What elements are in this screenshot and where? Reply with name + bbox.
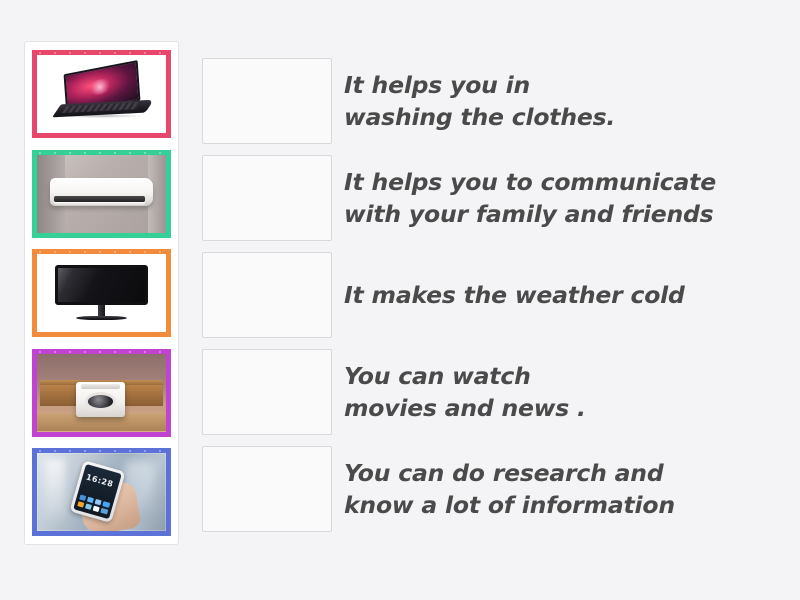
activity-stage: 16:28 (0, 0, 800, 600)
answer-text-4: You can watch movies and news . (344, 349, 764, 435)
television-art (37, 254, 166, 332)
air-conditioner-art (37, 155, 166, 233)
drop-zone-4[interactable] (202, 349, 332, 435)
answer-text-2: It helps you to communicate with your fa… (344, 155, 764, 241)
answer-column: It helps you in washing the clothes. It … (344, 58, 764, 532)
phone-clock-label: 16:28 (85, 473, 114, 489)
answer-text-1: It helps you in washing the clothes. (344, 58, 764, 144)
washing-machine-photo (37, 354, 166, 432)
drop-zone-2[interactable] (202, 155, 332, 241)
laptop-photo (37, 55, 166, 133)
image-tile-washing-machine[interactable] (30, 347, 173, 439)
television-photo (37, 254, 166, 332)
image-tiles-panel: 16:28 (24, 41, 179, 545)
image-tile-television[interactable] (30, 247, 173, 339)
image-tile-laptop[interactable] (30, 48, 173, 140)
washing-machine-art (37, 354, 166, 432)
drop-zone-1[interactable] (202, 58, 332, 144)
image-tile-air-conditioner[interactable] (30, 148, 173, 240)
smartphone-photo: 16:28 (37, 453, 166, 531)
drop-zone-3[interactable] (202, 252, 332, 338)
air-conditioner-photo (37, 155, 166, 233)
laptop-art (37, 55, 166, 133)
phone-app-icons (77, 495, 110, 515)
drop-zone-5[interactable] (202, 446, 332, 532)
drop-zone-column (202, 58, 332, 532)
answer-text-3: It makes the weather cold (344, 252, 764, 338)
smartphone-art: 16:28 (37, 453, 166, 531)
image-tile-smartphone[interactable]: 16:28 (30, 446, 173, 538)
answer-text-5: You can do research and know a lot of in… (344, 446, 764, 532)
